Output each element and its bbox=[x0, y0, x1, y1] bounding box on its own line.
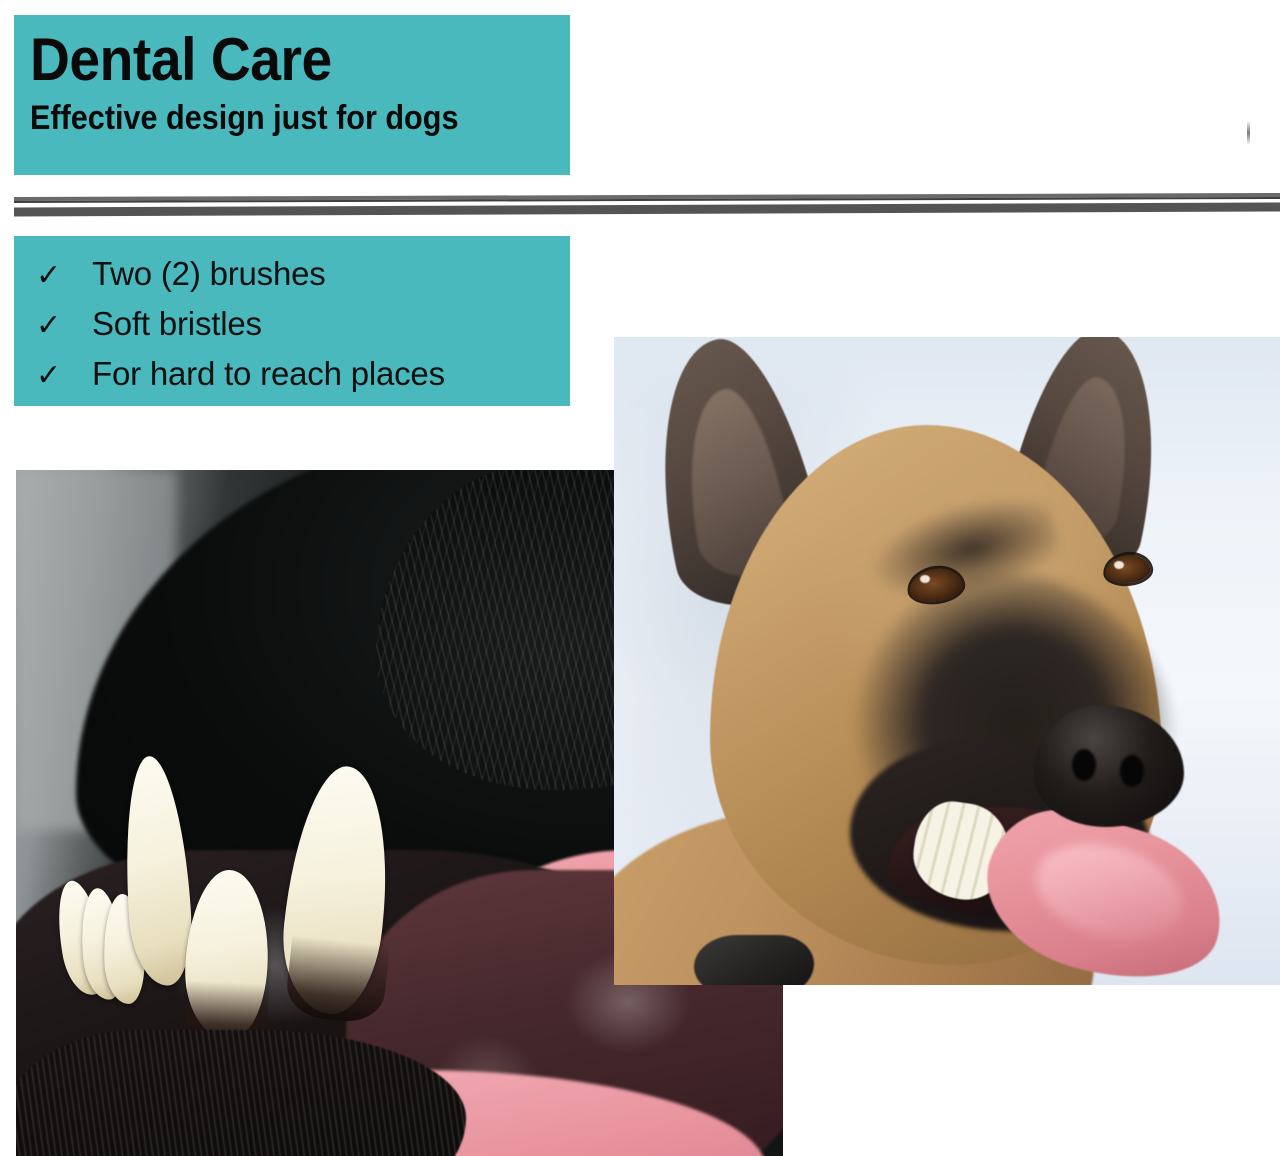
feature-label: For hard to reach places bbox=[92, 352, 445, 396]
dog-nostril bbox=[1120, 755, 1144, 787]
page-title: Dental Care bbox=[30, 27, 527, 93]
check-icon: ✓ bbox=[36, 354, 92, 398]
feature-label: Two (2) brushes bbox=[92, 252, 326, 296]
dog-collar bbox=[694, 935, 814, 985]
dog-nostril bbox=[1072, 749, 1096, 781]
belgian-malinois-head-photo bbox=[614, 337, 1280, 985]
title-band: Dental Care Effective design just for do… bbox=[14, 15, 570, 175]
list-item: ✓ Soft bristles bbox=[36, 302, 570, 352]
slide-canvas: Dental Care Effective design just for do… bbox=[0, 0, 1280, 1156]
faint-tick-mark bbox=[1247, 122, 1250, 144]
dog-left-eye-highlight bbox=[920, 575, 930, 583]
features-band: ✓ Two (2) brushes ✓ Soft bristles ✓ For … bbox=[14, 236, 570, 406]
list-item: ✓ Two (2) brushes bbox=[36, 252, 570, 302]
feature-label: Soft bristles bbox=[92, 302, 262, 346]
divider-lines-icon bbox=[0, 190, 1280, 222]
divider bbox=[0, 190, 1280, 222]
list-item: ✓ For hard to reach places bbox=[36, 352, 570, 402]
check-icon: ✓ bbox=[36, 304, 92, 348]
dog-right-eye-highlight bbox=[1114, 561, 1124, 569]
check-icon: ✓ bbox=[36, 254, 92, 298]
page-subtitle: Effective design just for dogs bbox=[30, 97, 516, 139]
